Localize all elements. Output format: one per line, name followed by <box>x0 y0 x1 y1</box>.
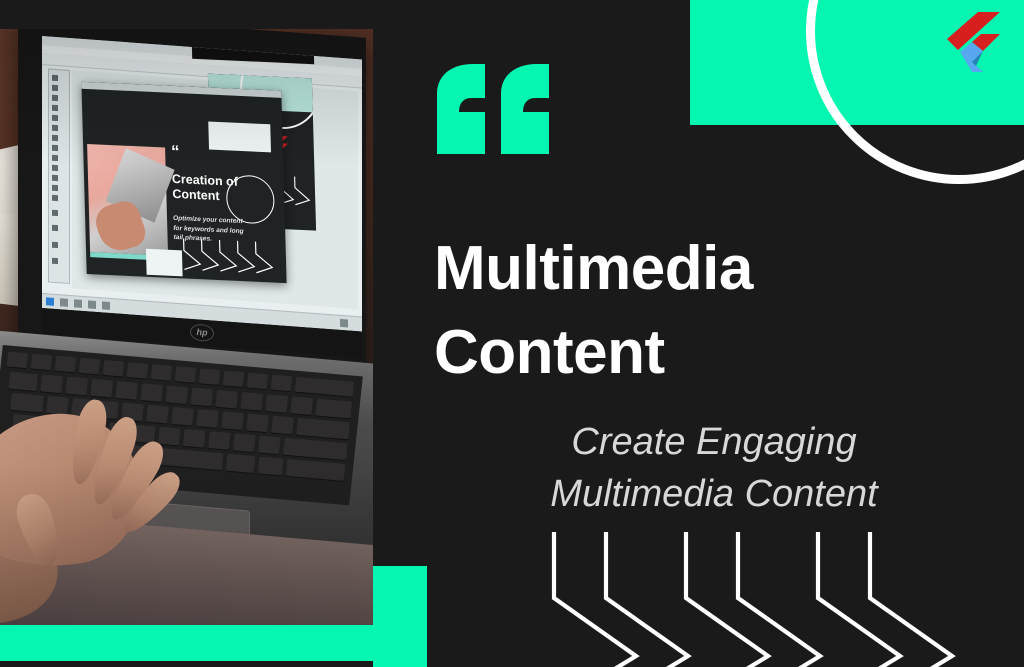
keyboard-key <box>151 364 173 381</box>
tool-icon <box>52 145 58 151</box>
tool-icon <box>52 210 58 216</box>
tool-icon <box>52 165 58 171</box>
slide-title: Creation of Content <box>172 172 277 206</box>
tool-icon <box>52 225 58 231</box>
double-chevron-right-icon <box>536 520 1024 667</box>
keyboard-key <box>246 414 269 433</box>
tool-icon <box>52 135 58 141</box>
tool-icon <box>52 125 58 131</box>
keyboard-key <box>31 354 53 371</box>
keyboard-key <box>258 436 281 455</box>
taskbar-app-icon <box>74 299 82 308</box>
keyboard-key <box>196 409 219 428</box>
slide-canvas: “ Creation of Content Optimize your cont… <box>0 0 1024 667</box>
keyboard-key <box>103 360 125 377</box>
keyboard-key <box>221 411 244 430</box>
keyboard-key <box>208 431 231 450</box>
keyboard-key <box>286 459 346 481</box>
keyboard-key-alt <box>226 454 256 473</box>
taskbar-clock <box>340 319 348 328</box>
page-title-line2: Content <box>434 311 994 395</box>
keyboard-key <box>127 362 149 379</box>
tool-icon <box>52 95 58 101</box>
tool-icon <box>52 105 58 111</box>
keyboard-key <box>223 370 245 387</box>
keyboard-key <box>247 373 269 390</box>
slide-inset-photo <box>87 144 168 256</box>
quotation-mark-icon: “ <box>171 146 179 158</box>
hero-photo: “ Creation of Content Optimize your cont… <box>0 29 373 654</box>
keyboard-key <box>240 392 263 411</box>
slide-white-block <box>146 249 183 277</box>
tool-icon <box>52 75 58 81</box>
slide-white-block <box>208 121 271 152</box>
tool-icon <box>52 242 58 248</box>
tool-icon <box>52 185 58 191</box>
app-tool-palette <box>48 68 70 284</box>
keyboard-key <box>283 438 348 460</box>
hp-logo-icon: hp <box>190 323 214 342</box>
laptop-lid: “ Creation of Content Optimize your cont… <box>18 29 366 368</box>
slide-title-line2: Content <box>172 187 220 203</box>
tool-icon <box>52 155 58 161</box>
keyboard-key <box>258 457 284 476</box>
taskbar-app-icon <box>60 298 68 307</box>
page-title: Multimedia Content <box>434 227 994 396</box>
keyboard-key <box>265 394 288 413</box>
slide-body-line2: for keywords and long <box>173 224 244 234</box>
tool-icon <box>52 85 58 91</box>
user-hand <box>0 381 194 581</box>
tool-icon <box>52 175 58 181</box>
green-accent-bar <box>0 625 427 661</box>
slide-body-line1: Optimize your content <box>173 215 243 225</box>
keyboard-key <box>55 356 77 373</box>
flutter-logo-icon <box>938 8 1006 76</box>
keyboard-key <box>215 390 238 409</box>
tool-icon <box>52 195 58 201</box>
start-button-icon <box>46 297 54 306</box>
keyboard-key <box>315 399 352 419</box>
keyboard-key <box>79 358 101 375</box>
keyboard-key <box>271 416 294 435</box>
quotation-mark-icon <box>433 58 553 158</box>
laptop-screen: “ Creation of Content Optimize your cont… <box>42 36 362 331</box>
keyboard-key <box>295 377 355 397</box>
page-subtitle-line2: Multimedia Content <box>434 469 994 521</box>
taskbar-app-icon <box>88 300 96 309</box>
keyboard-key <box>233 433 256 452</box>
keyboard-key <box>271 375 293 392</box>
taskbar-app-icon <box>102 301 110 310</box>
page-subtitle-line1: Create Engaging <box>434 417 994 469</box>
keyboard-key <box>7 352 29 369</box>
tool-icon <box>52 258 58 264</box>
keyboard-key <box>290 396 313 415</box>
double-chevron-right-icon <box>182 236 279 274</box>
page-title-line1: Multimedia <box>434 227 994 311</box>
tool-icon <box>52 115 58 121</box>
keyboard-key <box>296 418 350 439</box>
slide-thumbnail-primary: “ Creation of Content Optimize your cont… <box>81 82 286 283</box>
keyboard-key <box>199 368 221 385</box>
page-subtitle: Create Engaging Multimedia Content <box>434 417 994 520</box>
